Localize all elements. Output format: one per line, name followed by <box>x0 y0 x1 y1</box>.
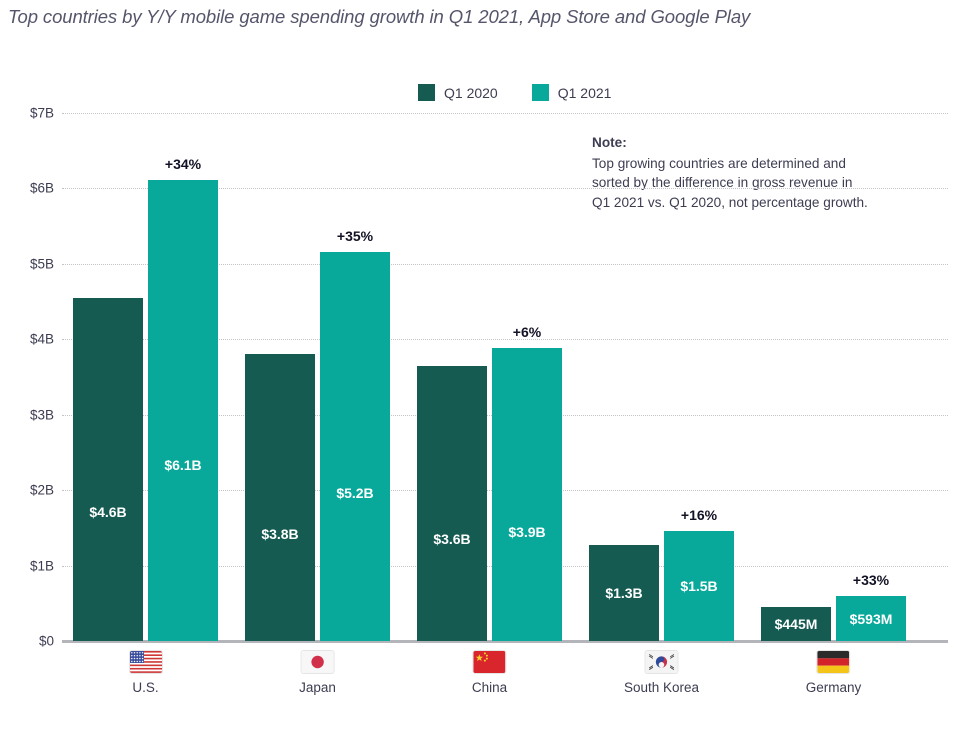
bar-china-q1-2020[interactable]: $3.6B <box>417 366 487 641</box>
x-axis-category-china: China <box>472 651 507 697</box>
x-axis-category-label: China <box>472 680 507 695</box>
bar-south-korea-q1-2020[interactable]: $1.3B <box>589 545 659 641</box>
bar-value-label: $1.3B <box>589 585 659 601</box>
growth-annotation: +34% <box>165 156 201 172</box>
bar-south-korea-q1-2021[interactable]: $1.5B <box>664 531 734 641</box>
bar-value-label: $445M <box>761 616 831 632</box>
x-axis-category-u-s-: U.S. <box>130 651 162 697</box>
bar-value-label: $3.6B <box>417 531 487 547</box>
bar-japan-q1-2020[interactable]: $3.8B <box>245 354 315 641</box>
bar-value-label: $6.1B <box>148 457 218 473</box>
y-axis-tick-label: $4B <box>10 332 54 347</box>
flag-de-icon <box>818 651 850 673</box>
x-axis-category-south-korea: South Korea <box>624 651 699 697</box>
bar-value-label: $3.9B <box>492 524 562 540</box>
y-axis-tick-label: $5B <box>10 256 54 271</box>
gridline <box>62 113 948 114</box>
x-axis-category-label: Germany <box>806 680 862 695</box>
bar-value-label: $4.6B <box>73 504 143 520</box>
bar-value-label: $1.5B <box>664 578 734 594</box>
bar-japan-q1-2021[interactable]: $5.2B <box>320 252 390 641</box>
y-axis-tick-label: $1B <box>10 558 54 573</box>
y-axis-tick-label: $2B <box>10 483 54 498</box>
bar-value-label: $3.8B <box>245 526 315 542</box>
bar-china-q1-2021[interactable]: $3.9B <box>492 348 562 641</box>
bar-germany-q1-2021[interactable]: $593M <box>836 596 906 641</box>
growth-annotation: +35% <box>337 228 373 244</box>
x-axis-category-germany: Germany <box>806 651 862 697</box>
x-axis-category-label: Japan <box>299 680 336 695</box>
flag-kr-icon <box>646 651 678 673</box>
bar-germany-q1-2020[interactable]: $445M <box>761 607 831 641</box>
bar-value-label: $593M <box>836 611 906 627</box>
growth-annotation: +16% <box>681 507 717 523</box>
y-axis-tick-label: $6B <box>10 181 54 196</box>
flag-cn-icon <box>474 651 506 673</box>
bar-value-label: $5.2B <box>320 485 390 501</box>
growth-annotation: +33% <box>853 572 889 588</box>
y-axis-tick-label: $7B <box>10 106 54 121</box>
flag-jp-icon <box>301 651 333 673</box>
y-axis-tick-label: $0 <box>10 634 54 649</box>
flag-us-icon <box>130 651 162 673</box>
x-axis-category-japan: Japan <box>299 651 336 697</box>
bar-u-s--q1-2020[interactable]: $4.6B <box>73 298 143 641</box>
growth-annotation: +6% <box>513 324 541 340</box>
y-axis-tick-label: $3B <box>10 407 54 422</box>
bar-chart-plot-area: $0$1B$2B$3B$4B$5B$6B$7B$4.6B$6.1B+34%U.S… <box>0 0 953 729</box>
bar-u-s--q1-2021[interactable]: $6.1B <box>148 180 218 641</box>
x-axis-category-label: South Korea <box>624 680 699 695</box>
x-axis-category-label: U.S. <box>132 680 158 695</box>
